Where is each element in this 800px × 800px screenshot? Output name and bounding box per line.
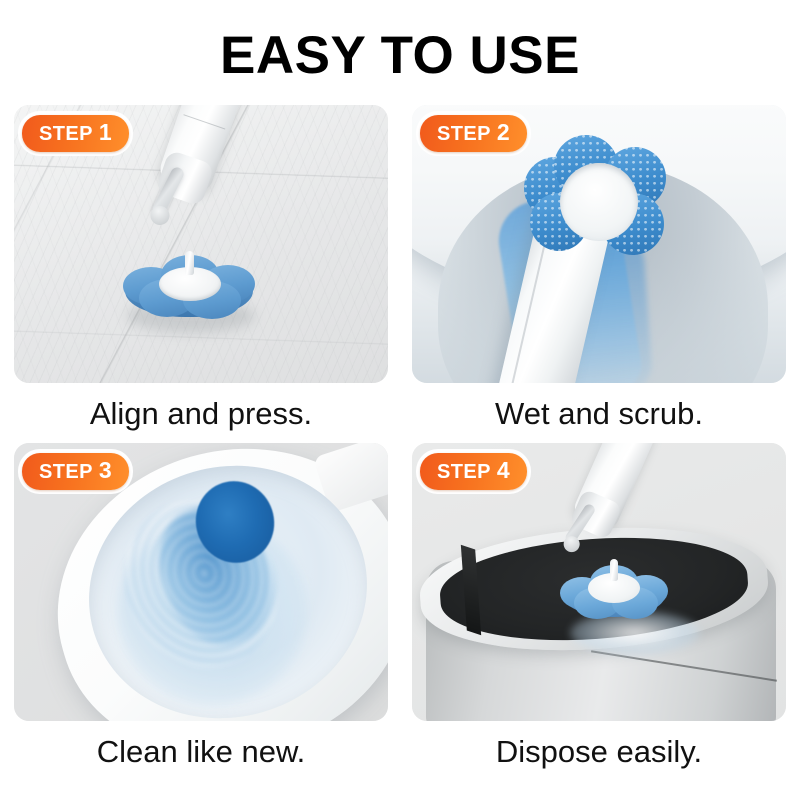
steps-grid: STEP 1 Align and press. (14, 105, 786, 785)
step-card-1: STEP 1 Align and press. (14, 105, 388, 383)
step-badge-number: 3 (99, 459, 112, 481)
page-title: EASY TO USE (0, 26, 800, 86)
flower-pad-icon (560, 565, 668, 627)
step-badge-pill: STEP 1 (22, 115, 129, 152)
step-caption-2: Wet and scrub. (412, 393, 786, 435)
step-caption-1: Align and press. (14, 393, 388, 435)
pad-center-nub (185, 251, 194, 275)
flower-pad-icon (121, 253, 257, 329)
step-badge-pill: STEP 4 (420, 453, 527, 490)
step-badge-number: 4 (497, 459, 510, 481)
step-caption-3: Clean like new. (14, 731, 388, 773)
step-card-2: STEP 2 Wet and scrub. (412, 105, 786, 383)
step-badge-word: STEP (437, 123, 491, 145)
infographic-page: EASY TO USE (0, 0, 800, 800)
step-badge-number: 1 (99, 121, 112, 143)
step-badge-3: STEP 3 (18, 449, 133, 494)
step-badge-1: STEP 1 (18, 111, 133, 156)
step-badge-pill: STEP 3 (22, 453, 129, 490)
step-caption-4: Dispose easily. (412, 731, 786, 773)
step-badge-2: STEP 2 (416, 111, 531, 156)
step-badge-number: 2 (497, 121, 510, 143)
step-card-4: STEP 4 Dispose easily. (412, 443, 786, 721)
step-badge-word: STEP (39, 461, 93, 483)
wand-prong-tip (148, 203, 172, 227)
pad-center-hole (560, 163, 638, 241)
step-badge-4: STEP 4 (416, 449, 531, 494)
step-badge-word: STEP (39, 123, 93, 145)
step-card-3: STEP 3 Clean like new. (14, 443, 388, 721)
pad-center-nub (610, 559, 618, 581)
step-badge-pill: STEP 2 (420, 115, 527, 152)
step-badge-word: STEP (437, 461, 491, 483)
flower-pad-icon (520, 135, 672, 260)
